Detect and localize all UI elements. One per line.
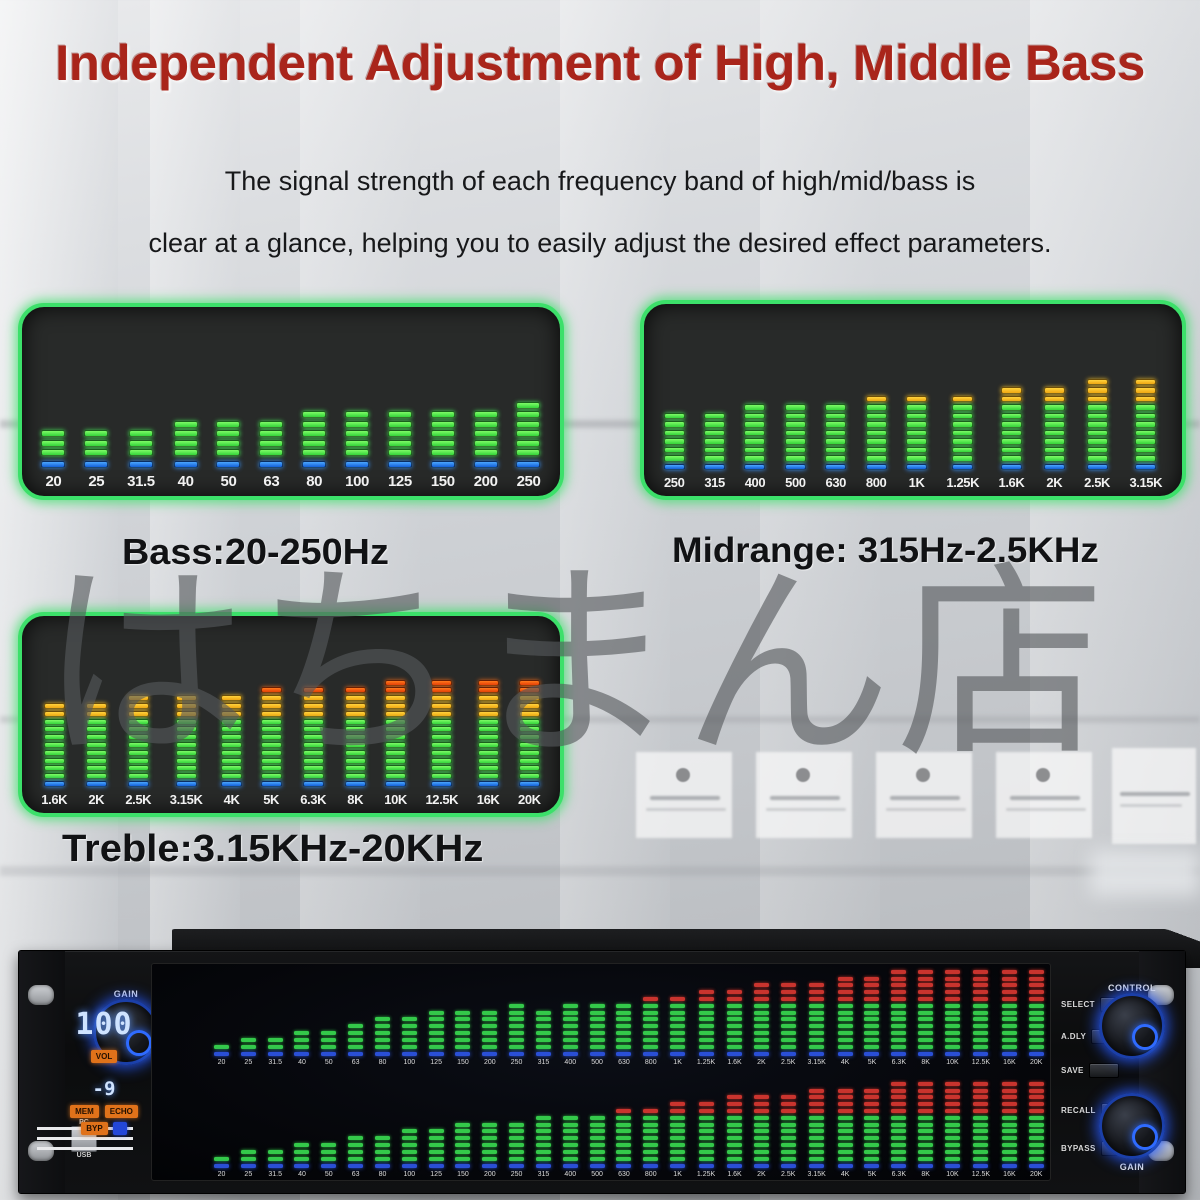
led-segment: [478, 695, 499, 701]
hardware-led-segment: [838, 1052, 853, 1056]
led-segment-stack: [431, 678, 452, 787]
hardware-band-label: 500: [591, 1059, 603, 1066]
hardware-led-segment: [402, 1045, 417, 1049]
hardware-frequency-band: 800: [643, 970, 658, 1066]
hardware-led-segment: [348, 1045, 363, 1049]
hardware-led-segment: [838, 1038, 853, 1042]
led-segment: [345, 703, 366, 709]
led-segment: [1135, 404, 1156, 411]
hardware-led-segment: [1029, 1038, 1044, 1042]
hardware-led-segment: [918, 1143, 933, 1147]
hardware-led-segment: [590, 1004, 605, 1008]
hardware-led-segment: [455, 1052, 470, 1056]
frequency-band: 630: [825, 314, 846, 490]
hardware-led-segment: [973, 970, 988, 974]
hardware-frequency-band: 630: [616, 970, 631, 1066]
hardware-led-segment: [455, 1150, 470, 1154]
led-segment: [1135, 430, 1156, 437]
hardware-led-segment: [699, 1164, 714, 1168]
led-segment: [1044, 430, 1065, 437]
hardware-led-segment: [1029, 1082, 1044, 1086]
hardware-frequency-band: 2K: [754, 1082, 769, 1178]
hardware-led-segment: [670, 1129, 685, 1133]
led-segment-stack: [259, 418, 283, 468]
hardware-led-segment: [945, 1089, 960, 1093]
hardware-led-stack: [781, 1093, 796, 1168]
hardware-led-segment: [809, 1045, 824, 1049]
hardware-led-segment: [727, 1143, 742, 1147]
led-segment: [478, 680, 499, 686]
led-segment: [216, 461, 240, 468]
led-segment: [519, 726, 540, 732]
hardware-led-segment: [1002, 1052, 1017, 1056]
hardware-led-segment: [809, 1150, 824, 1154]
led-segment: [86, 742, 107, 748]
led-segment: [128, 758, 149, 764]
hardware-led-segment: [891, 1143, 906, 1147]
led-segment: [744, 421, 765, 428]
hardware-led-segment: [429, 1143, 444, 1147]
hardware-led-stack: [727, 987, 742, 1056]
hardware-led-segment: [670, 1116, 685, 1120]
frequency-band: 100: [345, 317, 369, 490]
led-segment: [221, 765, 242, 771]
led-segment-stack: [44, 701, 65, 787]
led-segment: [174, 440, 198, 447]
led-segment: [176, 711, 197, 717]
hardware-led-segment: [918, 1045, 933, 1049]
led-segment: [785, 464, 806, 471]
hardware-led-segment: [268, 1150, 283, 1154]
led-segment: [84, 449, 108, 456]
hardware-led-segment: [429, 1017, 444, 1021]
led-segment: [86, 750, 107, 756]
frequency-band: 20: [41, 317, 65, 490]
led-segment: [1087, 379, 1108, 386]
hardware-led-segment: [563, 1024, 578, 1028]
hardware-led-segment: [1002, 997, 1017, 1001]
byp-badge-row: BYP: [67, 1122, 141, 1135]
hardware-led-segment: [838, 1031, 853, 1035]
led-segment: [704, 430, 725, 437]
led-segment: [221, 695, 242, 701]
hardware-led-stack: [321, 1140, 336, 1168]
subtitle-line-2: clear at a glance, helping you to easily…: [0, 212, 1200, 274]
hardware-led-segment: [891, 1011, 906, 1015]
led-segment: [825, 447, 846, 454]
hardware-led-stack: [402, 1015, 417, 1056]
led-segment: [41, 430, 65, 437]
led-segment: [866, 430, 887, 437]
hardware-led-segment: [590, 1157, 605, 1161]
led-segment: [176, 703, 197, 709]
hardware-led-segment: [590, 1052, 605, 1056]
hardware-led-segment: [348, 1038, 363, 1042]
hardware-band-label: 10K: [946, 1059, 958, 1066]
hardware-led-segment: [973, 1031, 988, 1035]
hardware-led-stack: [268, 1147, 283, 1168]
hardware-led-segment: [1002, 1129, 1017, 1133]
hardware-led-segment: [563, 1157, 578, 1161]
hardware-led-segment: [973, 1143, 988, 1147]
hardware-led-segment: [864, 1089, 879, 1093]
led-segment: [176, 726, 197, 732]
band-frequency-label: 31.5: [127, 473, 155, 490]
hardware-led-segment: [616, 1031, 631, 1035]
led-segment: [952, 404, 973, 411]
led-segment-stack: [216, 418, 240, 468]
mem-echo-badge-row: MEM ECHO: [67, 1105, 141, 1118]
hardware-led-segment: [509, 1031, 524, 1035]
led-segment: [176, 758, 197, 764]
hardware-led-stack: [727, 1093, 742, 1168]
hardware-band-label: 5K: [868, 1059, 877, 1066]
hardware-band-label: 1.6K: [727, 1171, 741, 1178]
save-button-key[interactable]: [1089, 1063, 1119, 1078]
led-segment: [385, 711, 406, 717]
led-segment: [216, 421, 240, 428]
hardware-led-segment: [945, 1082, 960, 1086]
led-segment: [1001, 438, 1022, 445]
frequency-band: 63: [259, 317, 283, 490]
led-segment: [1001, 413, 1022, 420]
hardware-frequency-band: 20: [214, 1082, 229, 1178]
led-segment: [1001, 421, 1022, 428]
hardware-led-stack: [455, 1008, 470, 1056]
frequency-band: 4K: [221, 626, 242, 807]
hardware-led-segment: [643, 1024, 658, 1028]
hardware-led-segment: [616, 1011, 631, 1015]
led-segment-stack: [86, 701, 107, 787]
led-segment: [474, 421, 498, 428]
hardware-frequency-band: 1K: [670, 970, 685, 1066]
bass-led-panel: 202531.540506380100125150200250: [18, 303, 564, 500]
hardware-led-stack: [214, 1154, 229, 1168]
rack-screw-hole: [28, 1141, 54, 1161]
hardware-led-segment: [781, 1150, 796, 1154]
led-segment: [1087, 387, 1108, 394]
led-segment-stack: [516, 399, 540, 468]
led-segment: [303, 703, 324, 709]
led-segment: [44, 726, 65, 732]
save-button[interactable]: SAVE: [1061, 1063, 1119, 1078]
led-segment: [261, 734, 282, 740]
hardware-led-segment: [945, 1143, 960, 1147]
hardware-led-segment: [294, 1045, 309, 1049]
led-segment-stack: [176, 693, 197, 787]
frequency-band: 125: [388, 317, 412, 490]
hardware-led-segment: [754, 1157, 769, 1161]
led-segment: [128, 719, 149, 725]
band-frequency-label: 630: [826, 475, 847, 490]
frequency-band: 8K: [345, 626, 366, 807]
hardware-led-segment: [838, 997, 853, 1001]
led-segment-stack: [1001, 385, 1022, 470]
control-knob[interactable]: [1099, 993, 1165, 1059]
led-segment-stack: [128, 693, 149, 787]
hardware-led-segment: [616, 1038, 631, 1042]
led-segment: [86, 711, 107, 717]
hardware-led-segment: [973, 1011, 988, 1015]
hardware-led-segment: [509, 1017, 524, 1021]
led-segment: [385, 680, 406, 686]
hardware-frequency-band: 6.3K: [891, 970, 906, 1066]
hardware-led-segment: [1002, 1045, 1017, 1049]
hardware-frequency-band: 10K: [945, 970, 960, 1066]
led-segment: [431, 711, 452, 717]
hardware-led-segment: [536, 1116, 551, 1120]
hardware-band-label: 125: [430, 1171, 442, 1178]
hardware-led-segment: [482, 1017, 497, 1021]
led-segment-stack: [431, 409, 455, 469]
hardware-led-stack: [241, 1147, 256, 1168]
led-segment: [516, 430, 540, 437]
hardware-frequency-band: 1.6K: [727, 970, 742, 1066]
hardware-led-segment: [429, 1129, 444, 1133]
hardware-led-segment: [781, 990, 796, 994]
led-segment: [952, 438, 973, 445]
hardware-band-label: 100: [403, 1059, 415, 1066]
led-segment: [478, 758, 499, 764]
hardware-channel-1-row: 202531.540506380100125150200250315400500…: [214, 970, 1044, 1066]
frequency-band: 200: [474, 317, 498, 490]
hardware-led-segment: [727, 1164, 742, 1168]
hardware-led-segment: [536, 1157, 551, 1161]
hardware-channel-2-row: 202531.540506380100125150200250315400500…: [214, 1082, 1044, 1178]
hardware-led-stack: [429, 1008, 444, 1056]
hardware-led-segment: [616, 1024, 631, 1028]
hardware-frequency-band: 315: [536, 1082, 551, 1178]
hardware-led-segment: [727, 997, 742, 1001]
frequency-band: 5K: [261, 626, 282, 807]
band-frequency-label: 5K: [263, 792, 279, 807]
hardware-led-segment: [891, 1017, 906, 1021]
led-segment: [345, 758, 366, 764]
led-segment-stack: [906, 394, 927, 471]
hardware-band-label: 80: [379, 1059, 387, 1066]
hardware-led-segment: [482, 1143, 497, 1147]
mem-badge: MEM: [70, 1105, 99, 1118]
led-segment: [825, 413, 846, 420]
led-segment: [1001, 387, 1022, 394]
hardware-led-segment: [838, 1011, 853, 1015]
control-knob-group[interactable]: CONTROL: [1099, 983, 1165, 1059]
led-segment: [385, 726, 406, 732]
hardware-led-segment: [482, 1052, 497, 1056]
background-info-card: [636, 752, 732, 838]
hardware-led-segment: [754, 983, 769, 987]
led-segment: [866, 404, 887, 411]
led-segment: [431, 440, 455, 447]
hardware-led-segment: [918, 1136, 933, 1140]
hardware-led-segment: [241, 1045, 256, 1049]
hardware-led-segment: [1002, 970, 1017, 974]
frequency-band: 40: [174, 317, 198, 490]
hardware-led-segment: [455, 1129, 470, 1133]
hardware-led-segment: [891, 1045, 906, 1049]
hardware-led-segment: [643, 997, 658, 1001]
led-segment: [1087, 455, 1108, 462]
band-frequency-label: 2K: [1046, 475, 1062, 490]
hardware-led-segment: [891, 1129, 906, 1133]
led-segment: [744, 455, 765, 462]
led-segment: [519, 758, 540, 764]
led-segment: [86, 765, 107, 771]
hardware-led-segment: [754, 1136, 769, 1140]
hardware-led-stack: [348, 1021, 363, 1056]
led-segment: [478, 726, 499, 732]
led-segment: [1135, 379, 1156, 386]
hardware-led-segment: [482, 1031, 497, 1035]
frequency-band: 2K: [86, 626, 107, 807]
led-segment-stack: [385, 678, 406, 787]
led-segment-stack: [41, 428, 65, 469]
hardware-led-stack: [864, 1086, 879, 1168]
hardware-led-segment: [918, 1004, 933, 1008]
hardware-led-segment: [754, 1143, 769, 1147]
hardware-led-segment: [809, 1024, 824, 1028]
hardware-led-segment: [754, 1017, 769, 1021]
hardware-led-segment: [891, 1024, 906, 1028]
hardware-led-segment: [509, 1136, 524, 1140]
hardware-led-segment: [699, 1150, 714, 1154]
led-segment: [303, 765, 324, 771]
hardware-frequency-band: 8K: [918, 970, 933, 1066]
hardware-led-segment: [1002, 1116, 1017, 1120]
hardware-frequency-band: 1K: [670, 1082, 685, 1178]
hardware-frequency-band: 500: [590, 970, 605, 1066]
hardware-led-segment: [781, 1045, 796, 1049]
hardware-led-segment: [918, 1157, 933, 1161]
led-segment: [785, 430, 806, 437]
led-segment: [174, 421, 198, 428]
hardware-led-stack: [754, 1093, 769, 1168]
hardware-led-segment: [973, 1095, 988, 1099]
hardware-led-segment: [918, 1129, 933, 1133]
hardware-led-segment: [348, 1052, 363, 1056]
led-segment: [129, 449, 153, 456]
led-segment: [906, 438, 927, 445]
hardware-band-label: 8K: [921, 1171, 930, 1178]
led-segment-stack: [345, 409, 369, 469]
led-segment: [478, 773, 499, 779]
led-segment: [221, 742, 242, 748]
hardware-led-segment: [973, 990, 988, 994]
hardware-led-segment: [563, 1123, 578, 1127]
hardware-led-segment: [348, 1024, 363, 1028]
hardware-led-stack: [590, 1001, 605, 1056]
hardware-band-label: 1K: [673, 1059, 682, 1066]
hardware-led-segment: [1002, 1157, 1017, 1161]
hardware-led-segment: [838, 1095, 853, 1099]
hardware-led-segment: [268, 1038, 283, 1042]
hardware-led-segment: [1029, 1052, 1044, 1056]
hardware-led-segment: [891, 1089, 906, 1093]
hardware-led-segment: [321, 1052, 336, 1056]
frequency-band: 250: [516, 317, 540, 490]
hardware-led-segment: [727, 1095, 742, 1099]
gain-knob-right[interactable]: [1099, 1093, 1165, 1159]
hardware-led-segment: [590, 1038, 605, 1042]
led-segment: [664, 438, 685, 445]
band-frequency-label: 40: [178, 473, 194, 490]
hardware-frequency-band: 200: [482, 970, 497, 1066]
hardware-led-segment: [781, 1024, 796, 1028]
led-segment: [261, 687, 282, 693]
hardware-led-segment: [563, 1116, 578, 1120]
led-segment: [41, 449, 65, 456]
hardware-led-stack: [375, 1133, 390, 1168]
hardware-led-segment: [809, 1102, 824, 1106]
hardware-led-segment: [918, 1164, 933, 1168]
hardware-led-segment: [375, 1157, 390, 1161]
hardware-led-segment: [616, 1123, 631, 1127]
led-segment: [86, 781, 107, 787]
hardware-led-segment: [838, 1157, 853, 1161]
hardware-led-segment: [241, 1164, 256, 1168]
byp-badge: BYP: [81, 1122, 107, 1135]
led-segment: [128, 711, 149, 717]
hardware-led-segment: [509, 1045, 524, 1049]
hardware-frequency-band: 31.5: [268, 970, 283, 1066]
hardware-led-segment: [809, 1052, 824, 1056]
hardware-led-segment: [891, 1095, 906, 1099]
hardware-led-stack: [973, 967, 988, 1056]
led-segment: [431, 695, 452, 701]
led-segment: [866, 438, 887, 445]
hardware-band-label: 250: [511, 1059, 523, 1066]
hardware-led-segment: [945, 1004, 960, 1008]
hardware-led-segment: [1029, 1150, 1044, 1154]
hardware-led-segment: [1029, 1017, 1044, 1021]
hardware-led-segment: [699, 1157, 714, 1161]
hardware-led-segment: [402, 1038, 417, 1042]
led-segment: [744, 464, 765, 471]
hardware-led-segment: [864, 1136, 879, 1140]
hardware-led-segment: [670, 1031, 685, 1035]
hardware-led-stack: [455, 1120, 470, 1168]
hardware-band-label: 4K: [841, 1059, 850, 1066]
hardware-led-segment: [268, 1052, 283, 1056]
hardware-led-segment: [945, 1095, 960, 1099]
hardware-frequency-band: 3.15K: [808, 970, 826, 1066]
hardware-led-segment: [754, 1102, 769, 1106]
led-segment: [86, 758, 107, 764]
led-segment: [302, 461, 326, 468]
band-frequency-label: 1.25K: [946, 475, 979, 490]
led-segment: [431, 773, 452, 779]
band-frequency-label: 100: [345, 473, 369, 490]
hardware-led-segment: [973, 1102, 988, 1106]
led-segment: [1044, 387, 1065, 394]
hardware-led-segment: [891, 1136, 906, 1140]
hardware-led-segment: [402, 1136, 417, 1140]
hardware-led-segment: [945, 1136, 960, 1140]
led-segment: [785, 421, 806, 428]
hardware-led-segment: [699, 1136, 714, 1140]
hardware-band-label: 16K: [1003, 1171, 1015, 1178]
led-segment: [259, 449, 283, 456]
hardware-led-stack: [838, 1086, 853, 1168]
led-segment: [519, 711, 540, 717]
hardware-band-label: 16K: [1003, 1059, 1015, 1066]
hardware-led-segment: [945, 1017, 960, 1021]
hardware-led-segment: [590, 1129, 605, 1133]
gain-knob-right-group[interactable]: GAIN: [1099, 1093, 1165, 1172]
frequency-band: 1.25K: [946, 314, 979, 490]
hardware-led-segment: [864, 1004, 879, 1008]
led-segment: [744, 430, 765, 437]
